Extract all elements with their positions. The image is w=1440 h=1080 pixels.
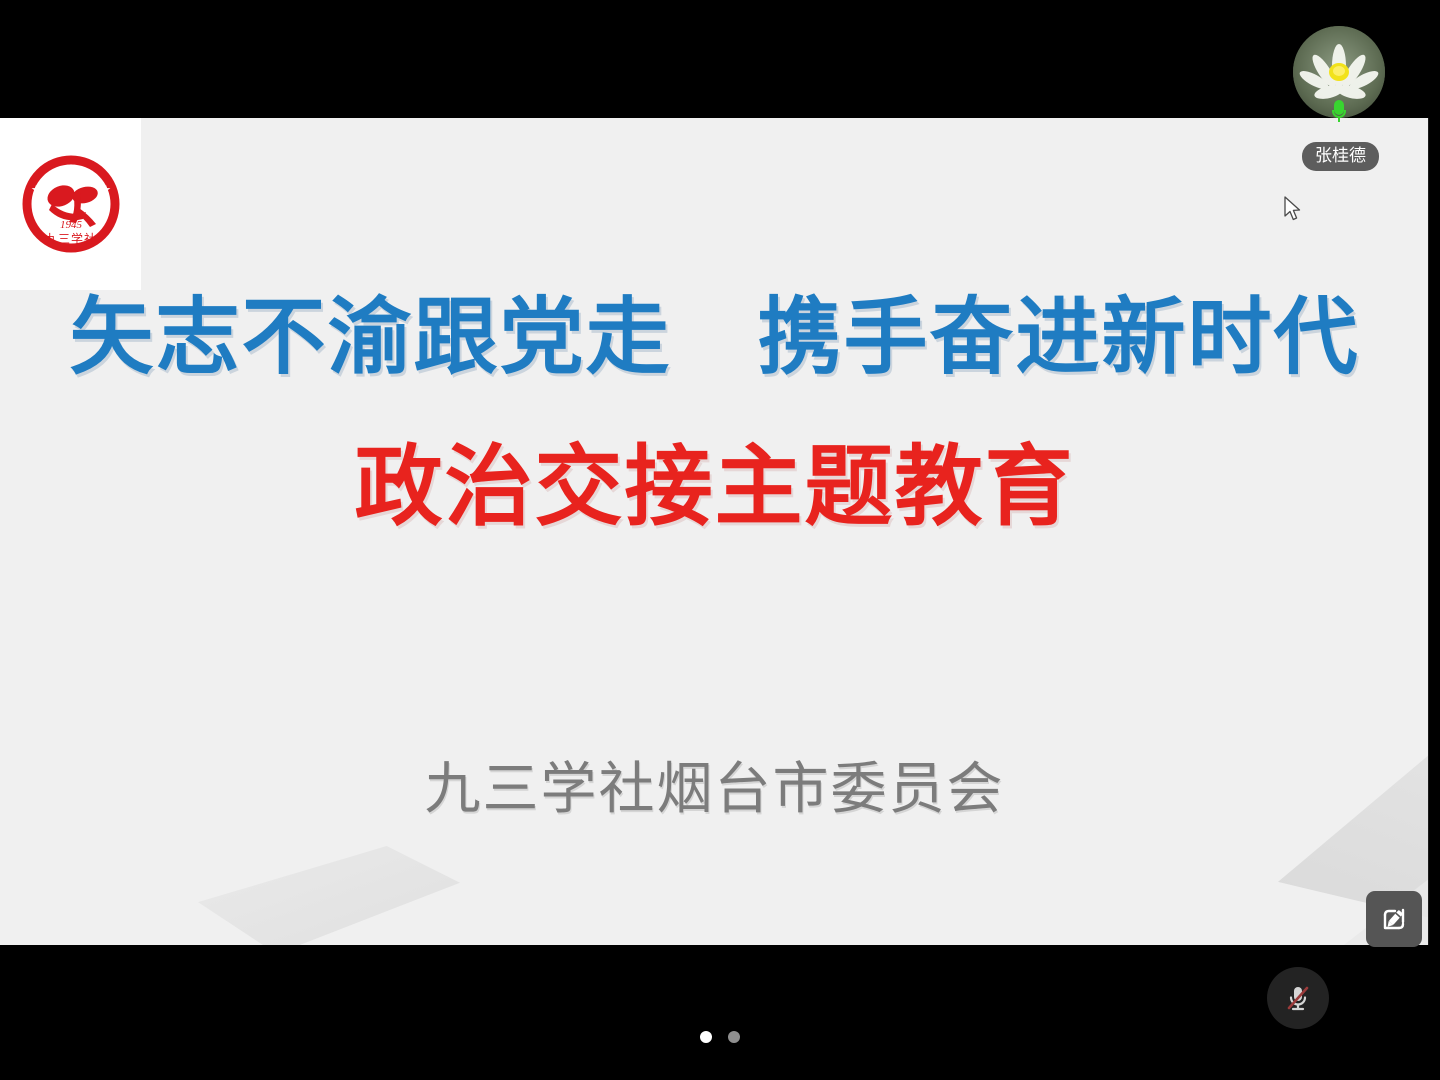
slide-canvas: 1945 九三学社 矢志不渝跟党走 携手奋进新时代 政治交接主题教育 九三学社烟… — [0, 118, 1429, 945]
shared-screen-edge — [1428, 118, 1429, 945]
jiusan-logo-block: 1945 九三学社 — [0, 118, 141, 290]
slide-title: 矢志不渝跟党走 携手奋进新时代 — [0, 290, 1429, 384]
microphone-mute-button[interactable] — [1267, 967, 1329, 1029]
shared-slide[interactable]: 1945 九三学社 矢志不渝跟党走 携手奋进新时代 政治交接主题教育 九三学社烟… — [0, 118, 1429, 945]
meeting-screen-share-view: 1945 九三学社 矢志不渝跟党走 携手奋进新时代 政治交接主题教育 九三学社烟… — [0, 0, 1440, 1080]
annotate-button[interactable] — [1366, 891, 1422, 947]
microphone-active-icon — [1331, 100, 1347, 124]
svg-text:1945: 1945 — [60, 219, 83, 231]
page-dot-2[interactable] — [728, 1031, 740, 1043]
slide-organization: 九三学社烟台市委员会 — [0, 744, 1429, 825]
page-dot-1[interactable] — [700, 1031, 712, 1043]
participant-name-badge: 张桂德 — [1302, 142, 1379, 171]
page-indicator[interactable] — [0, 1031, 1440, 1043]
svg-text:九三学社: 九三学社 — [44, 231, 96, 246]
slide-subtitle: 政治交接主题教育 — [0, 438, 1429, 537]
slide-decoration-left — [198, 846, 460, 945]
participant-tile[interactable] — [1293, 26, 1385, 118]
jiusan-society-emblem-icon: 1945 九三学社 — [19, 152, 123, 256]
